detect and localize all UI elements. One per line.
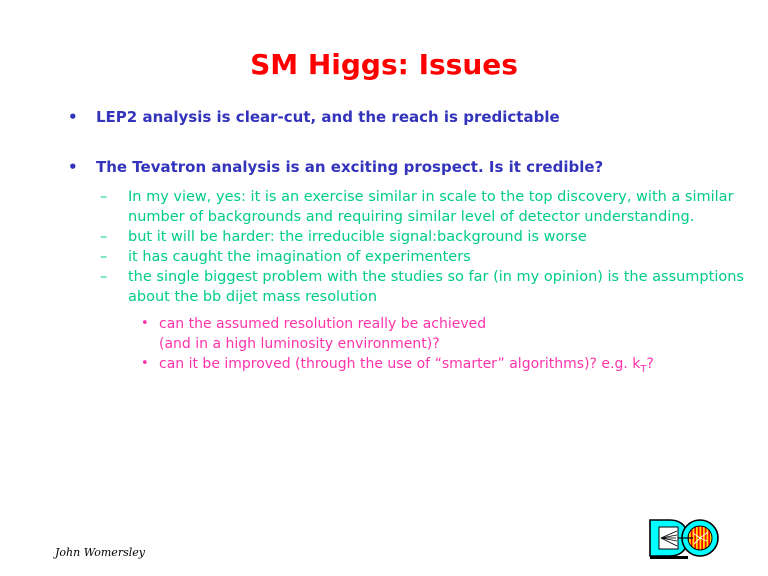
footer-author: John Womersley — [55, 546, 145, 559]
slide-canvas: SM Higgs: Issues • LEP2 analysis is clea… — [0, 0, 768, 576]
bullet-level3-resolution: • can the assumed resolution really be a… — [0, 314, 768, 354]
bullet-level3-improved-text: can it be improved (through the use of “… — [159, 356, 640, 372]
bullet-marker-icon: • — [68, 108, 78, 127]
dzero-logo-icon — [648, 514, 720, 562]
bullet-level3-improved: • can it be improved (through the use of… — [0, 354, 768, 380]
bullet-level2-in-my-view-text: In my view, yes: it is an exercise simil… — [128, 189, 734, 225]
bullet-level2-harder-text: but it will be harder: the irreducible s… — [128, 229, 587, 245]
bullet-level1-tevatron-text: The Tevatron analysis is an exciting pro… — [96, 158, 603, 176]
bullet-level2-imagination: – it has caught the imagination of exper… — [0, 247, 768, 267]
bullet-marker-icon: • — [141, 354, 149, 374]
bullet-level3-improved-suffix: ? — [646, 356, 653, 372]
dash-marker-icon: – — [100, 267, 107, 287]
bullet-level2-in-my-view: – In my view, yes: it is an exercise sim… — [0, 187, 768, 227]
bullet-marker-icon: • — [141, 314, 149, 334]
spacer — [0, 127, 768, 158]
slide-body: • LEP2 analysis is clear-cut, and the re… — [0, 108, 768, 380]
bullet-level3-resolution-line1: can the assumed resolution really be ach… — [159, 316, 486, 332]
spacer — [0, 307, 768, 314]
bullet-level2-biggest-problem: – the single biggest problem with the st… — [0, 267, 768, 307]
dash-marker-icon: – — [100, 247, 107, 267]
bullet-level1-tevatron: • The Tevatron analysis is an exciting p… — [0, 158, 768, 177]
bullet-level1-lep2: • LEP2 analysis is clear-cut, and the re… — [0, 108, 768, 127]
dash-marker-icon: – — [100, 187, 107, 207]
bullet-level1-lep2-text: LEP2 analysis is clear-cut, and the reac… — [96, 108, 560, 126]
bullet-level2-imagination-text: it has caught the imagination of experim… — [128, 249, 471, 265]
bullet-level3-resolution-line2: (and in a high luminosity environment)? — [159, 336, 440, 352]
page-title: SM Higgs: Issues — [0, 48, 768, 81]
bullet-level2-harder: – but it will be harder: the irreducible… — [0, 227, 768, 247]
bullet-level2-biggest-problem-text: the single biggest problem with the stud… — [128, 269, 744, 305]
bullet-marker-icon: • — [68, 158, 78, 177]
dash-marker-icon: – — [100, 227, 107, 247]
spacer — [0, 177, 768, 187]
